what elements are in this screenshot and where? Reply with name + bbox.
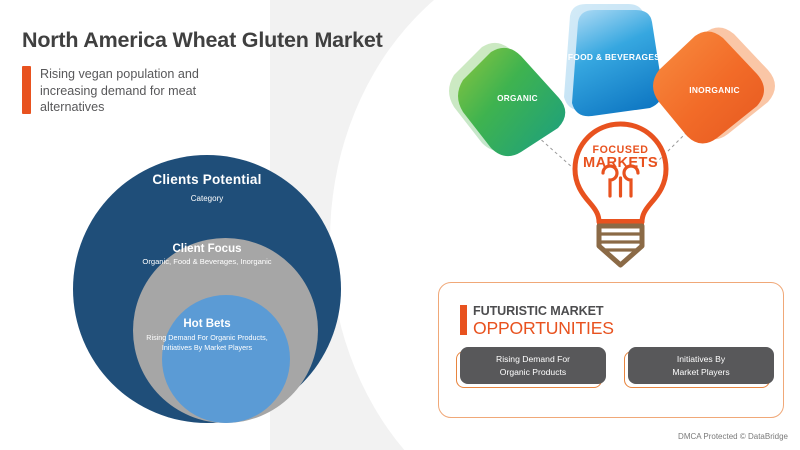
opportunity-card-line2: Market Players <box>672 367 729 377</box>
opportunities-heading: FUTURISTIC MARKET OPPORTUNITIES <box>460 305 614 338</box>
opportunity-card-line1: Initiatives By <box>677 354 725 364</box>
subtitle-accent-bar <box>22 66 31 114</box>
opportunities-accent-bar <box>460 305 467 335</box>
circle-middle-label: Client Focus <box>73 243 341 255</box>
circle-outer-sublabel: Category <box>73 194 341 203</box>
opportunity-card-rising-demand[interactable]: Rising Demand For Organic Products <box>460 347 606 384</box>
circle-inner-sublabel-line1: Rising Demand For Organic Products, <box>146 333 267 342</box>
circle-middle-sublabel: Organic, Food & Beverages, Inorganic <box>73 257 341 266</box>
opportunity-card-line2: Organic Products <box>500 367 566 377</box>
futuristic-opportunities-panel: FUTURISTIC MARKET OPPORTUNITIES Rising D… <box>438 282 784 418</box>
bulb-base <box>599 226 642 265</box>
circle-middle-label-group: Client Focus Organic, Food & Beverages, … <box>73 243 341 266</box>
concentric-circles-diagram: Clients Potential Category Client Focus … <box>73 155 341 423</box>
circle-inner-sublabel-line2: Initiatives By Market Players <box>162 343 252 352</box>
shield-inorganic-label: INORGANIC <box>647 85 782 95</box>
opportunity-card-line1: Rising Demand For <box>496 354 570 364</box>
circle-inner-label: Hot Bets <box>73 318 341 330</box>
circle-inner-sublabel: Rising Demand For Organic Products, Init… <box>73 333 341 352</box>
opportunities-heading-line1: FUTURISTIC MARKET <box>473 305 614 318</box>
opportunity-card-text: Initiatives By Market Players <box>672 353 729 377</box>
opportunity-card-wrapper: Initiatives By Market Players <box>628 347 774 384</box>
circle-hot-bets[interactable] <box>162 295 290 423</box>
focused-markets-lightbulb[interactable]: FOCUSED MARKETS <box>548 118 693 273</box>
opportunities-heading-line2: OPPORTUNITIES <box>473 319 614 337</box>
subtitle-block: Rising vegan population and increasing d… <box>22 66 250 116</box>
bulb-text-group: FOCUSED MARKETS <box>548 144 693 171</box>
page-title: North America Wheat Gluten Market <box>22 28 383 53</box>
bulb-glass-outline <box>575 124 666 222</box>
bulb-label-line2: MARKETS <box>548 155 693 171</box>
opportunities-card-list: Rising Demand For Organic Products Initi… <box>460 347 774 384</box>
footer-copyright: DMCA Protected © DataBridge <box>678 432 788 441</box>
circle-inner-label-group: Hot Bets Rising Demand For Organic Produ… <box>73 318 341 352</box>
circle-outer-label: Clients Potential <box>73 172 341 187</box>
opportunity-card-wrapper: Rising Demand For Organic Products <box>460 347 606 384</box>
opportunity-card-text: Rising Demand For Organic Products <box>496 353 570 377</box>
subtitle-text: Rising vegan population and increasing d… <box>40 66 250 116</box>
opportunity-card-initiatives[interactable]: Initiatives By Market Players <box>628 347 774 384</box>
slide-canvas: North America Wheat Gluten Market Rising… <box>0 0 800 450</box>
